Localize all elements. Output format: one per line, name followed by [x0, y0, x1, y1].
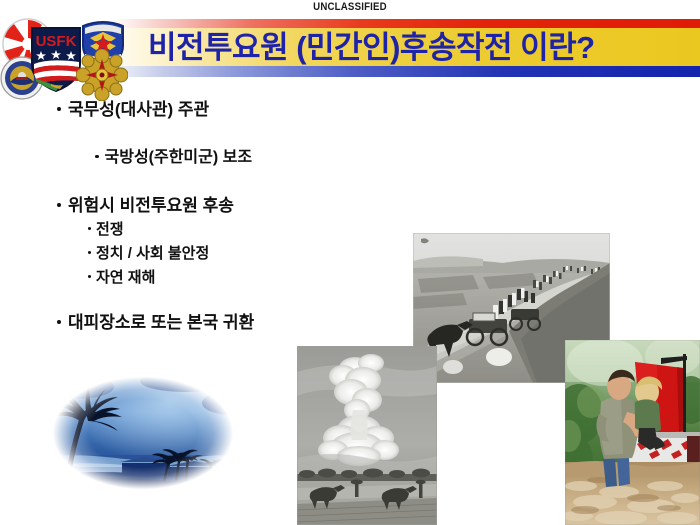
storm-palm-trees-photo: [36, 363, 250, 503]
bullet-text: 정치 / 사회 불안정: [96, 245, 209, 262]
bullet-dot: [57, 107, 61, 111]
bullet-item: 자연 재해: [88, 266, 155, 287]
svg-text:USFK: USFK: [36, 33, 77, 50]
bullet-dot: [88, 251, 91, 254]
bullet-dot: [88, 275, 91, 278]
usfk-shield-emblem: USFK: [29, 24, 83, 94]
bullet-dot: [88, 227, 91, 230]
bullet-item: 국무성(대사관) 주관: [57, 95, 209, 120]
classification-marking: UNCLASSIFIED: [42, 1, 658, 13]
flood-rescue-photo: [565, 340, 700, 525]
bullet-text: 자연 재해: [96, 269, 155, 286]
bullet-item: 전쟁: [88, 218, 124, 239]
volcano-eruption-photo: [297, 346, 437, 525]
bullet-dot: [57, 320, 61, 324]
page-title: 비전투요원 (민간인)후송작전 이란?: [148, 25, 688, 71]
bullet-text: 대피장소로 또는 본국 귀환: [68, 313, 254, 332]
bullet-text: 위험시 비전투요원 후송: [68, 196, 234, 215]
emblem-group: USFK: [0, 16, 135, 92]
bullet-text: 전쟁: [96, 221, 124, 238]
bullet-dot: [95, 155, 99, 159]
bullet-item: 대피장소로 또는 본국 귀환: [57, 308, 254, 333]
bullet-item: 위험시 비전투요원 후송: [57, 191, 234, 216]
bullet-text: 국무성(대사관) 주관: [68, 100, 209, 119]
bullet-item: 정치 / 사회 불안정: [88, 242, 209, 263]
bullet-list: 국무성(대사관) 주관 국방성(주한미군) 보조 위험시 비전투요원 후송 전쟁…: [0, 90, 420, 340]
slide-canvas: UNCLASSIFIED 비전투요원 (민간인)후송작전 이란?: [0, 0, 700, 525]
bullet-item: 국방성(주한미군) 보조: [95, 143, 252, 167]
bullet-dot: [57, 203, 61, 207]
bullet-text: 국방성(주한미군) 보조: [105, 149, 253, 166]
